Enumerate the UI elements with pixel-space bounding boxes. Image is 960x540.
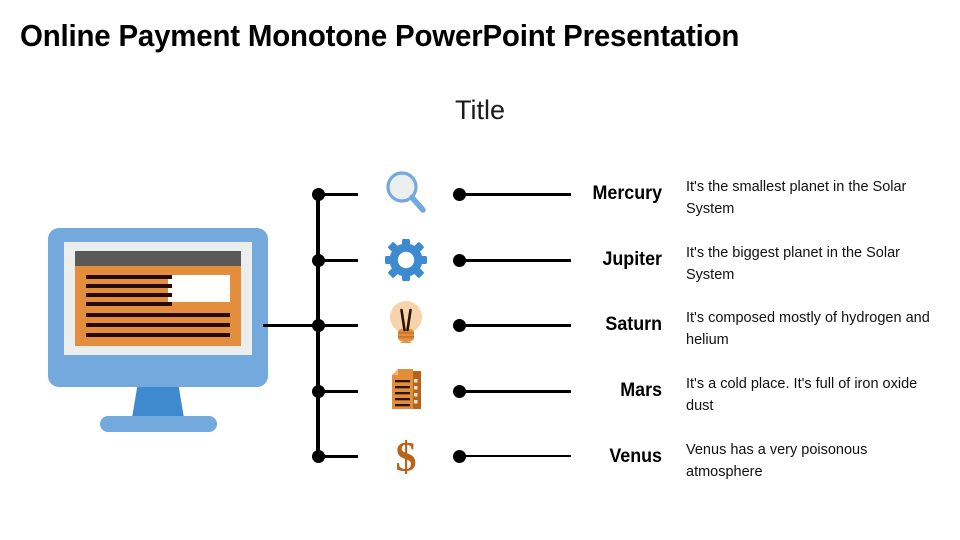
dollar-sign-icon-svg: $	[386, 431, 426, 483]
list-item-label: Venus	[482, 446, 662, 468]
webpage-mockup	[75, 251, 241, 346]
list-item-description: It's composed mostly of hydrogen and hel…	[686, 307, 938, 351]
magnifier-icon	[382, 168, 430, 218]
document-icon	[382, 366, 430, 416]
list-item-description: It's a cold place. It's full of iron oxi…	[686, 373, 938, 417]
spine-stub	[320, 259, 358, 262]
webpage-text-line	[86, 333, 230, 337]
webpage-text-line	[86, 275, 172, 279]
dollar-sign-icon: $	[382, 432, 430, 482]
monitor-body	[48, 228, 268, 387]
webpage-text-line	[86, 284, 172, 288]
list-item-label: Jupiter	[482, 249, 662, 271]
page-title: Online Payment Monotone PowerPoint Prese…	[20, 18, 904, 54]
webpage-image-placeholder	[168, 275, 230, 302]
webpage-text-line	[86, 302, 172, 306]
webpage-text-line	[86, 313, 230, 317]
webpage-text-line	[86, 293, 172, 297]
list-item-description: It's the smallest planet in the Solar Sy…	[686, 176, 938, 220]
list-item-description: Venus has a very poisonous atmosphere	[686, 439, 938, 483]
spine-stub	[320, 455, 358, 458]
lightbulb-icon	[382, 298, 430, 348]
list-item-description: It's the biggest planet in the Solar Sys…	[686, 242, 938, 286]
gear-icon-svg	[385, 239, 427, 281]
magnifier-icon-svg	[383, 169, 429, 217]
monitor-stand-base	[100, 416, 217, 432]
document-icon-svg	[384, 367, 428, 415]
spine-stub	[320, 324, 358, 327]
monitor-illustration	[48, 228, 268, 430]
monitor-screen	[64, 242, 252, 355]
section-title: Title	[455, 95, 505, 126]
spine-stub	[320, 390, 358, 393]
lightbulb-icon-svg	[386, 297, 426, 349]
svg-text:$: $	[396, 435, 417, 481]
webpage-header-bar	[75, 251, 241, 266]
monitor-stand-neck	[132, 387, 184, 418]
list-item-label: Mars	[482, 380, 662, 402]
list-item-label: Saturn	[482, 314, 662, 336]
spine-stub	[320, 193, 358, 196]
gear-icon	[382, 235, 430, 285]
webpage-text-line	[86, 323, 230, 327]
list-item-label: Mercury	[482, 183, 662, 205]
